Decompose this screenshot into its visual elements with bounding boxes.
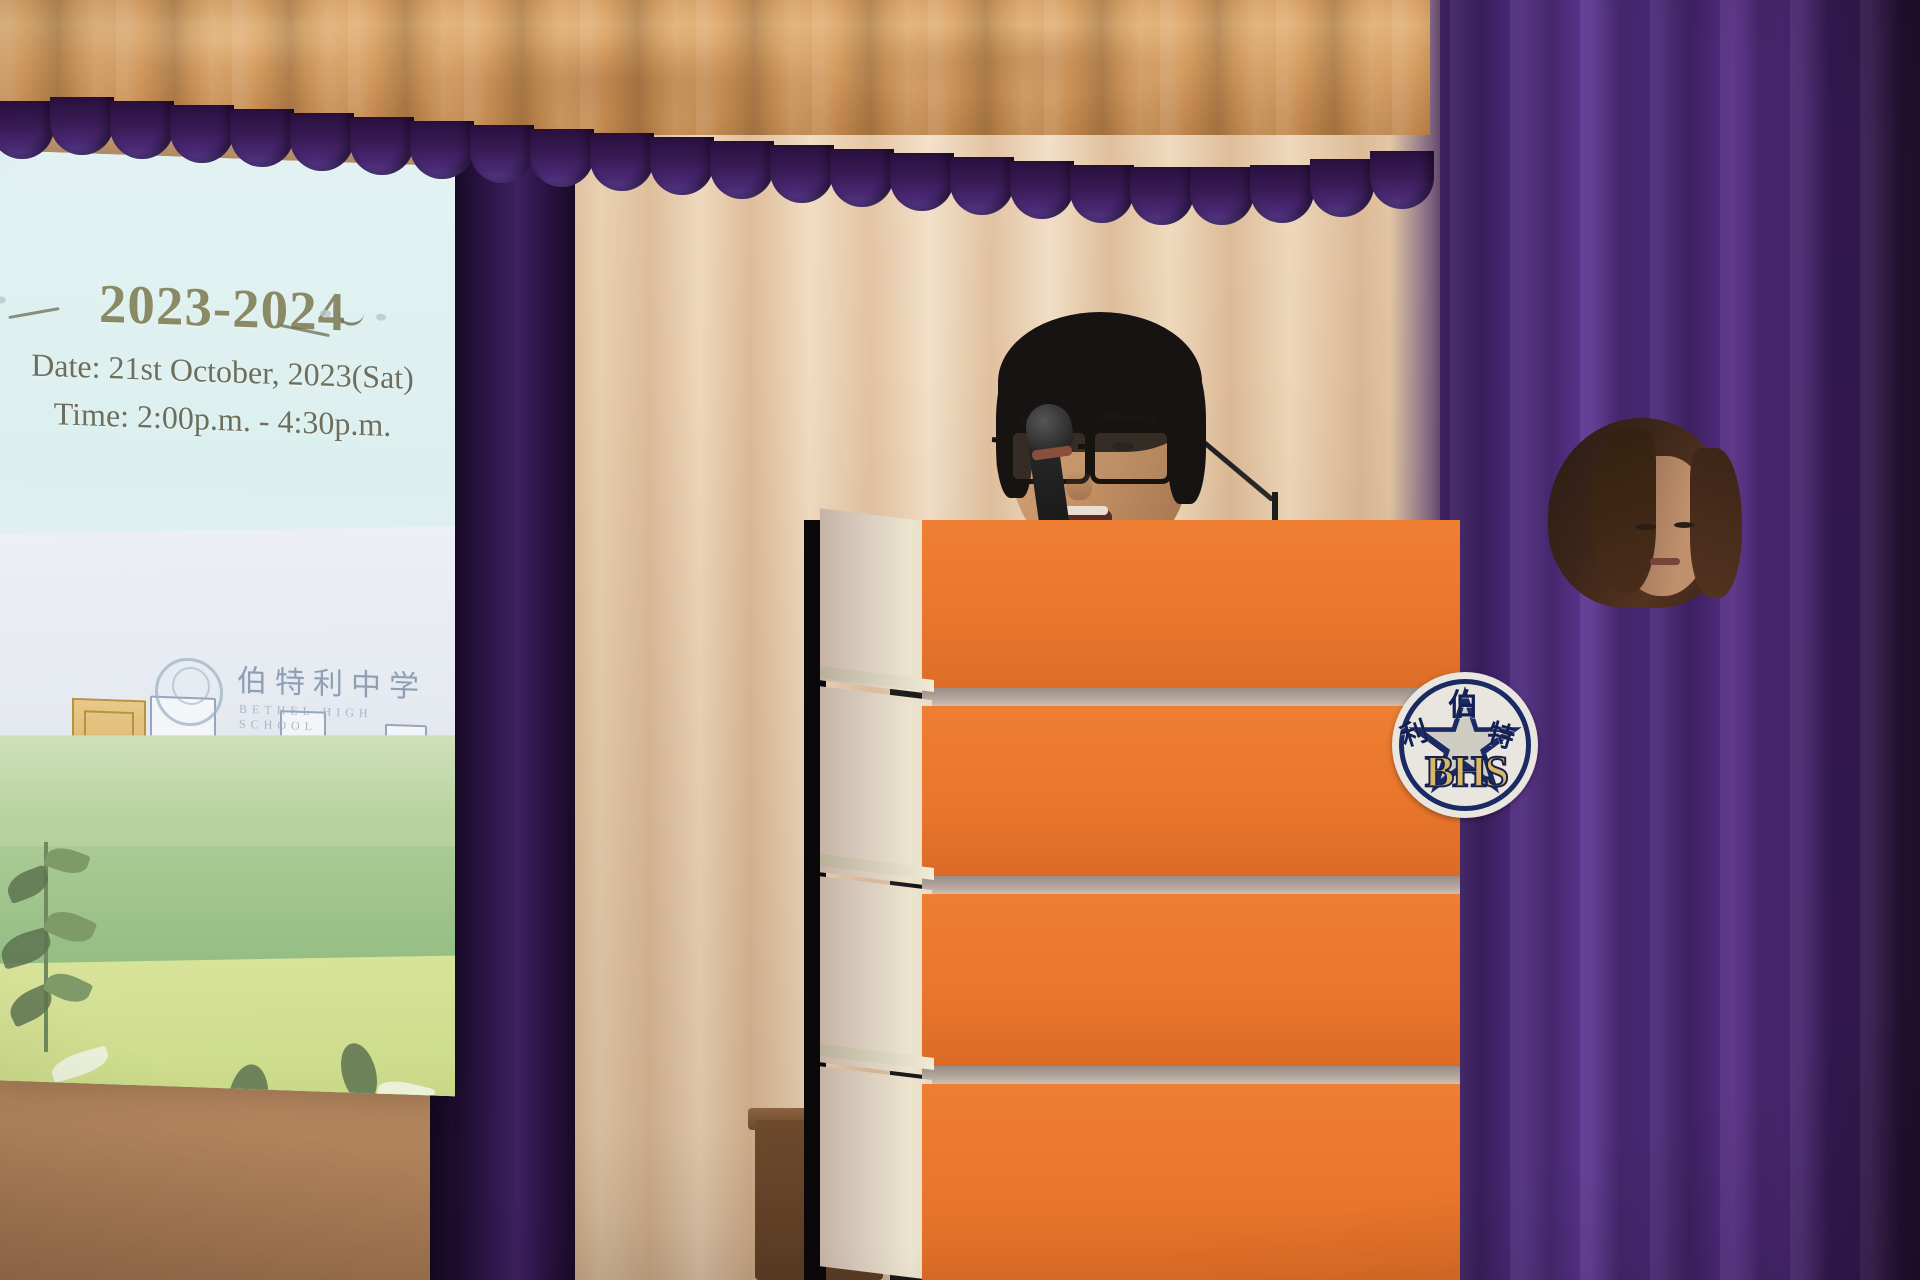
emblem-initials: BHS [1418,750,1514,794]
emblem-char-top: 伯 [1448,680,1478,724]
second-person-eye-right [1674,522,1694,528]
slide-logo-wreath-icon [155,657,223,727]
projection-screen: 2023-2024 Date: 21st October, 2023(Sat) … [0,150,455,1096]
stage-photo-scene: 2023-2024 Date: 21st October, 2023(Sat) … [0,0,1920,1280]
slide-school-name-en: BETHEL HIGH SCHOOL [239,702,435,739]
podium-front-panel-4 [922,1084,1460,1280]
second-person-mouth [1650,558,1680,565]
dark-purple-side-curtain [455,95,575,1280]
podium [820,520,1460,1280]
valance-scallop-trim [0,95,1450,155]
podium-front-panel-1 [922,520,1460,688]
right-purple-curtain [1440,0,1920,1280]
slide-dot-3 [376,313,386,320]
podium-emblem: 伯 利 特 BHS [1392,672,1538,818]
speaker-glasses-bridge [1078,444,1094,449]
slide-leaf-sprig [0,840,90,1073]
speaker-eye-right [1112,442,1134,451]
second-person [1540,418,1760,618]
purple-curtain-folds [1440,0,1920,1280]
slide-school-name-cn: 伯特利中学 [237,656,427,707]
second-person-eye-left [1636,524,1656,530]
speaker-glasses-arm [992,437,1012,444]
speaker-teeth [1062,506,1108,515]
podium-front-panel-3 [922,894,1460,1072]
speaker-nose [1066,470,1092,500]
speaker-hair-right [1168,364,1206,504]
podium-divider-1 [922,688,1460,706]
podium-side-panel-4 [820,1066,932,1280]
podium-front-panel-2 [922,706,1460,882]
speaker-glasses-right-lens [1090,428,1172,484]
podium-side-panel-1 [820,508,932,694]
second-person-hair-right [1690,448,1742,598]
second-person-hair-front [1592,428,1656,593]
podium-divider-3 [922,1066,1460,1084]
podium-divider-2 [922,876,1460,894]
slide-school-logo: 伯特利中学 BETHEL HIGH SCHOOL [155,651,435,751]
slide-dot-2 [320,310,331,318]
